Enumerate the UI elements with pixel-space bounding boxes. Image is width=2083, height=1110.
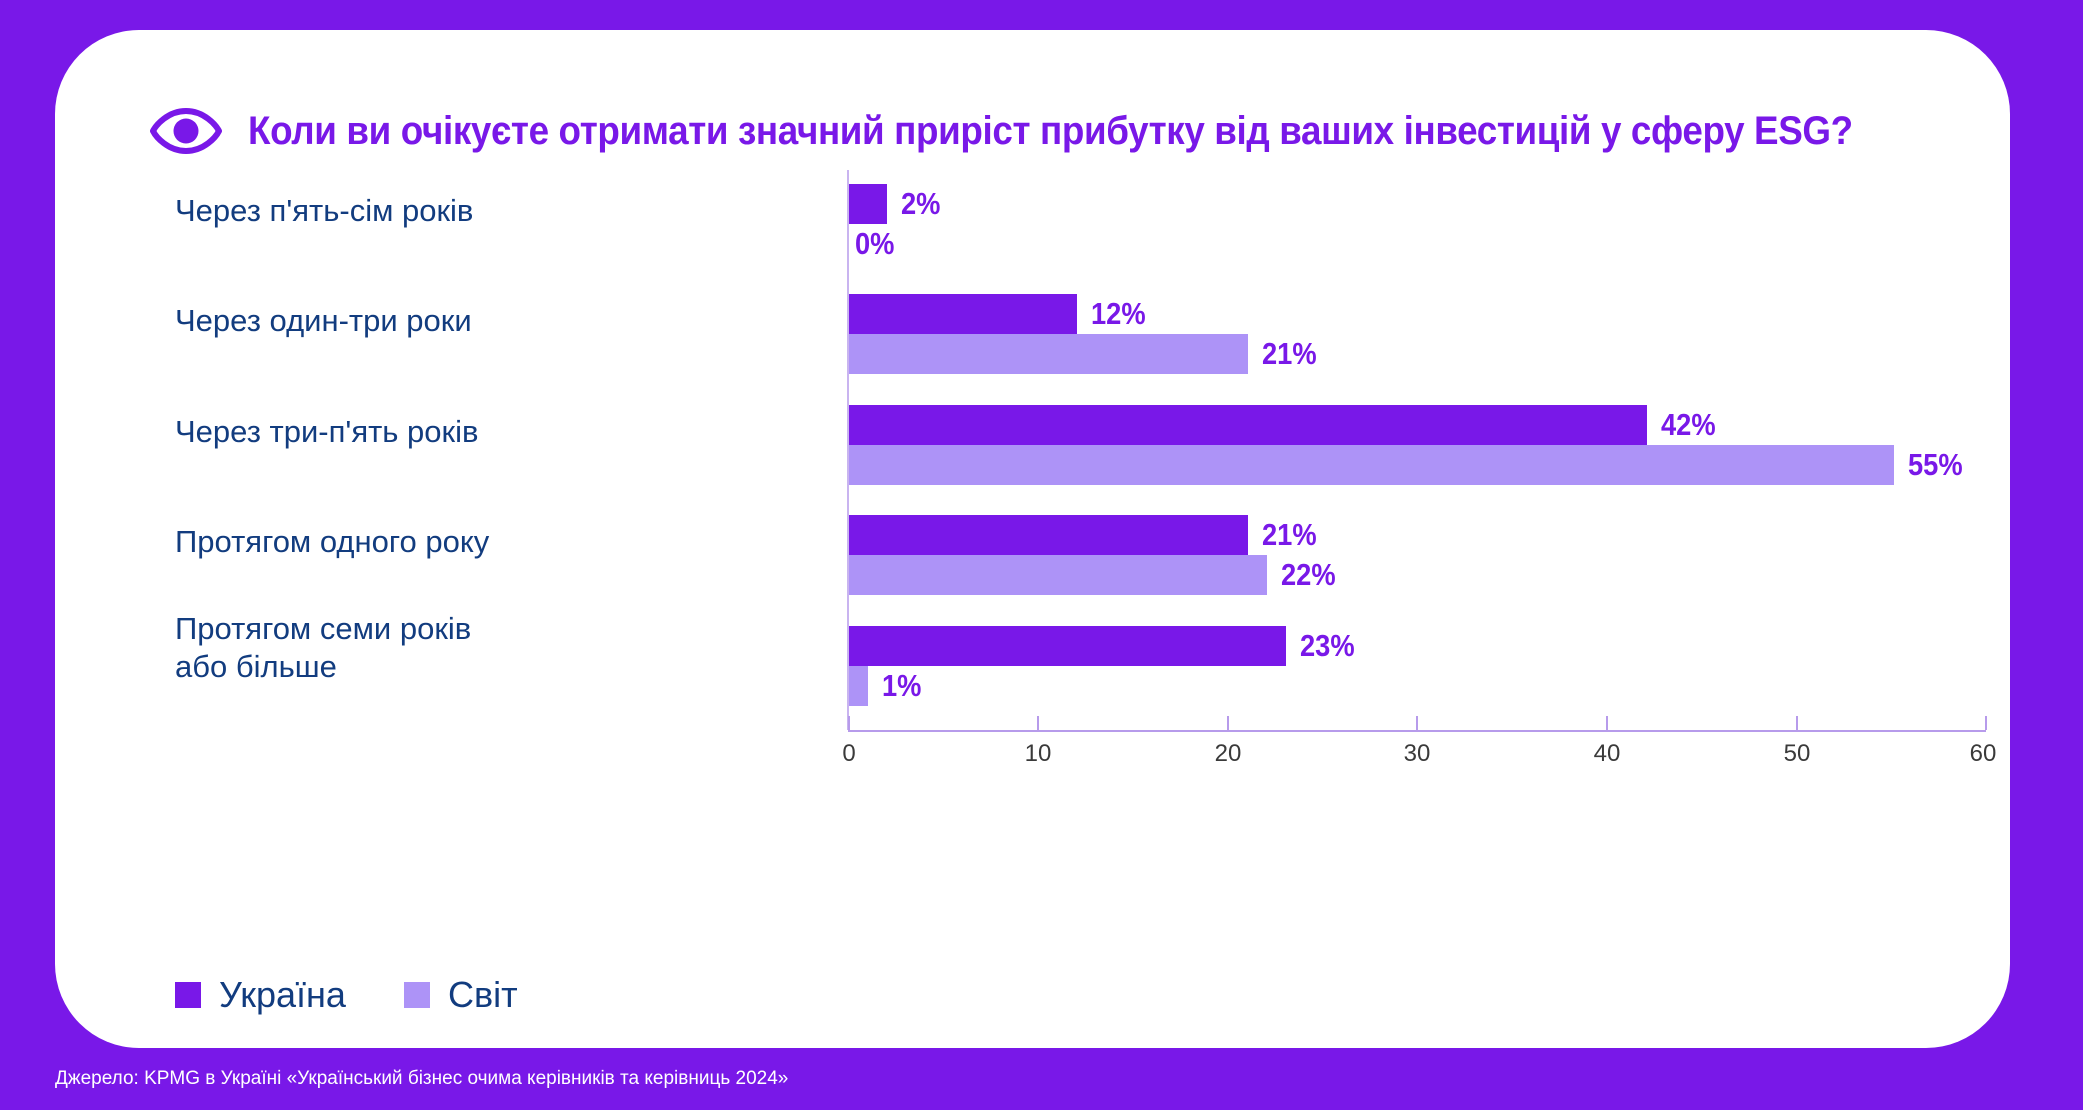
axis-tick (1227, 716, 1229, 730)
bar-value-world-3: 22% (1281, 555, 1336, 595)
bar-value-world-4: 1% (882, 666, 921, 706)
category-label-line: Через один-три роки (175, 303, 472, 338)
source-note: Джерело: KPMG в Україні «Український біз… (55, 1068, 788, 1090)
bar-world-1 (849, 334, 1248, 374)
legend-label-ukraine: Україна (219, 974, 346, 1016)
category-label-3: Протягом одного року (175, 523, 635, 561)
category-label-line: Через три-п'ять років (175, 414, 478, 449)
axis-tick (1037, 716, 1039, 730)
chart-header: Коли ви очікуєте отримати значний приріс… (150, 108, 1980, 154)
bar-ukraine-0 (849, 184, 887, 224)
bar-value-ukraine-1: 12% (1091, 294, 1146, 334)
category-label-line: Протягом одного року (175, 524, 489, 559)
bar-ukraine-1 (849, 294, 1077, 334)
category-label-2: Через три-п'ять років (175, 413, 635, 451)
bar-ukraine-4 (849, 626, 1286, 666)
category-label-0: Через п'ять-сім років (175, 192, 635, 230)
legend-swatch-icon (404, 982, 430, 1008)
bar-value-world-2: 55% (1908, 445, 1963, 485)
axis-tick-label-3: 30 (1404, 740, 1431, 768)
bar-ukraine-3 (849, 515, 1248, 555)
axis-tick (1606, 716, 1608, 730)
category-label-4: Протягом семи років або більше (175, 610, 635, 686)
category-label-line: Протягом семи років (175, 610, 635, 648)
axis-line (848, 730, 1986, 732)
bar-ukraine-2 (849, 405, 1647, 445)
bar-value-ukraine-3: 21% (1262, 515, 1317, 555)
category-label-line: Через п'ять-сім років (175, 193, 473, 228)
axis-tick-label-1: 10 (1025, 740, 1052, 768)
axis-tick (1985, 716, 1987, 730)
axis-tick-label-0: 0 (842, 740, 855, 768)
axis-tick-label-2: 20 (1215, 740, 1242, 768)
legend-swatch-icon (175, 982, 201, 1008)
legend-item-world[interactable]: Світ (404, 974, 518, 1016)
bar-world-3 (849, 555, 1267, 595)
chart-legend: Україна Світ (175, 974, 518, 1016)
axis-tick-label-5: 50 (1784, 740, 1811, 768)
axis-tick (1416, 716, 1418, 730)
bar-world-4 (849, 666, 868, 706)
bar-value-ukraine-4: 23% (1300, 626, 1355, 666)
axis-tick-label-6: 60 (1970, 740, 1997, 768)
axis-tick (1796, 716, 1798, 730)
category-label-1: Через один-три роки (175, 302, 635, 340)
bar-value-ukraine-2: 42% (1661, 405, 1716, 445)
bar-value-ukraine-0: 2% (901, 184, 940, 224)
chart-card: Коли ви очікуєте отримати значний приріс… (55, 30, 2010, 1048)
page-title: Коли ви очікуєте отримати значний приріс… (248, 111, 1853, 151)
bar-value-world-1: 21% (1262, 334, 1317, 374)
category-label-line: або більше (175, 648, 635, 686)
axis-tick (848, 716, 850, 730)
legend-item-ukraine[interactable]: Україна (175, 974, 346, 1016)
plot-area: Через п'ять-сім років Через один-три рок… (55, 170, 2010, 960)
legend-label-world: Світ (448, 974, 518, 1016)
x-axis: 0 10 20 30 40 50 60 (55, 730, 2010, 790)
bar-value-world-0: 0% (855, 224, 894, 264)
eye-icon (150, 108, 222, 154)
axis-tick-label-4: 40 (1594, 740, 1621, 768)
bar-world-2 (849, 445, 1894, 485)
